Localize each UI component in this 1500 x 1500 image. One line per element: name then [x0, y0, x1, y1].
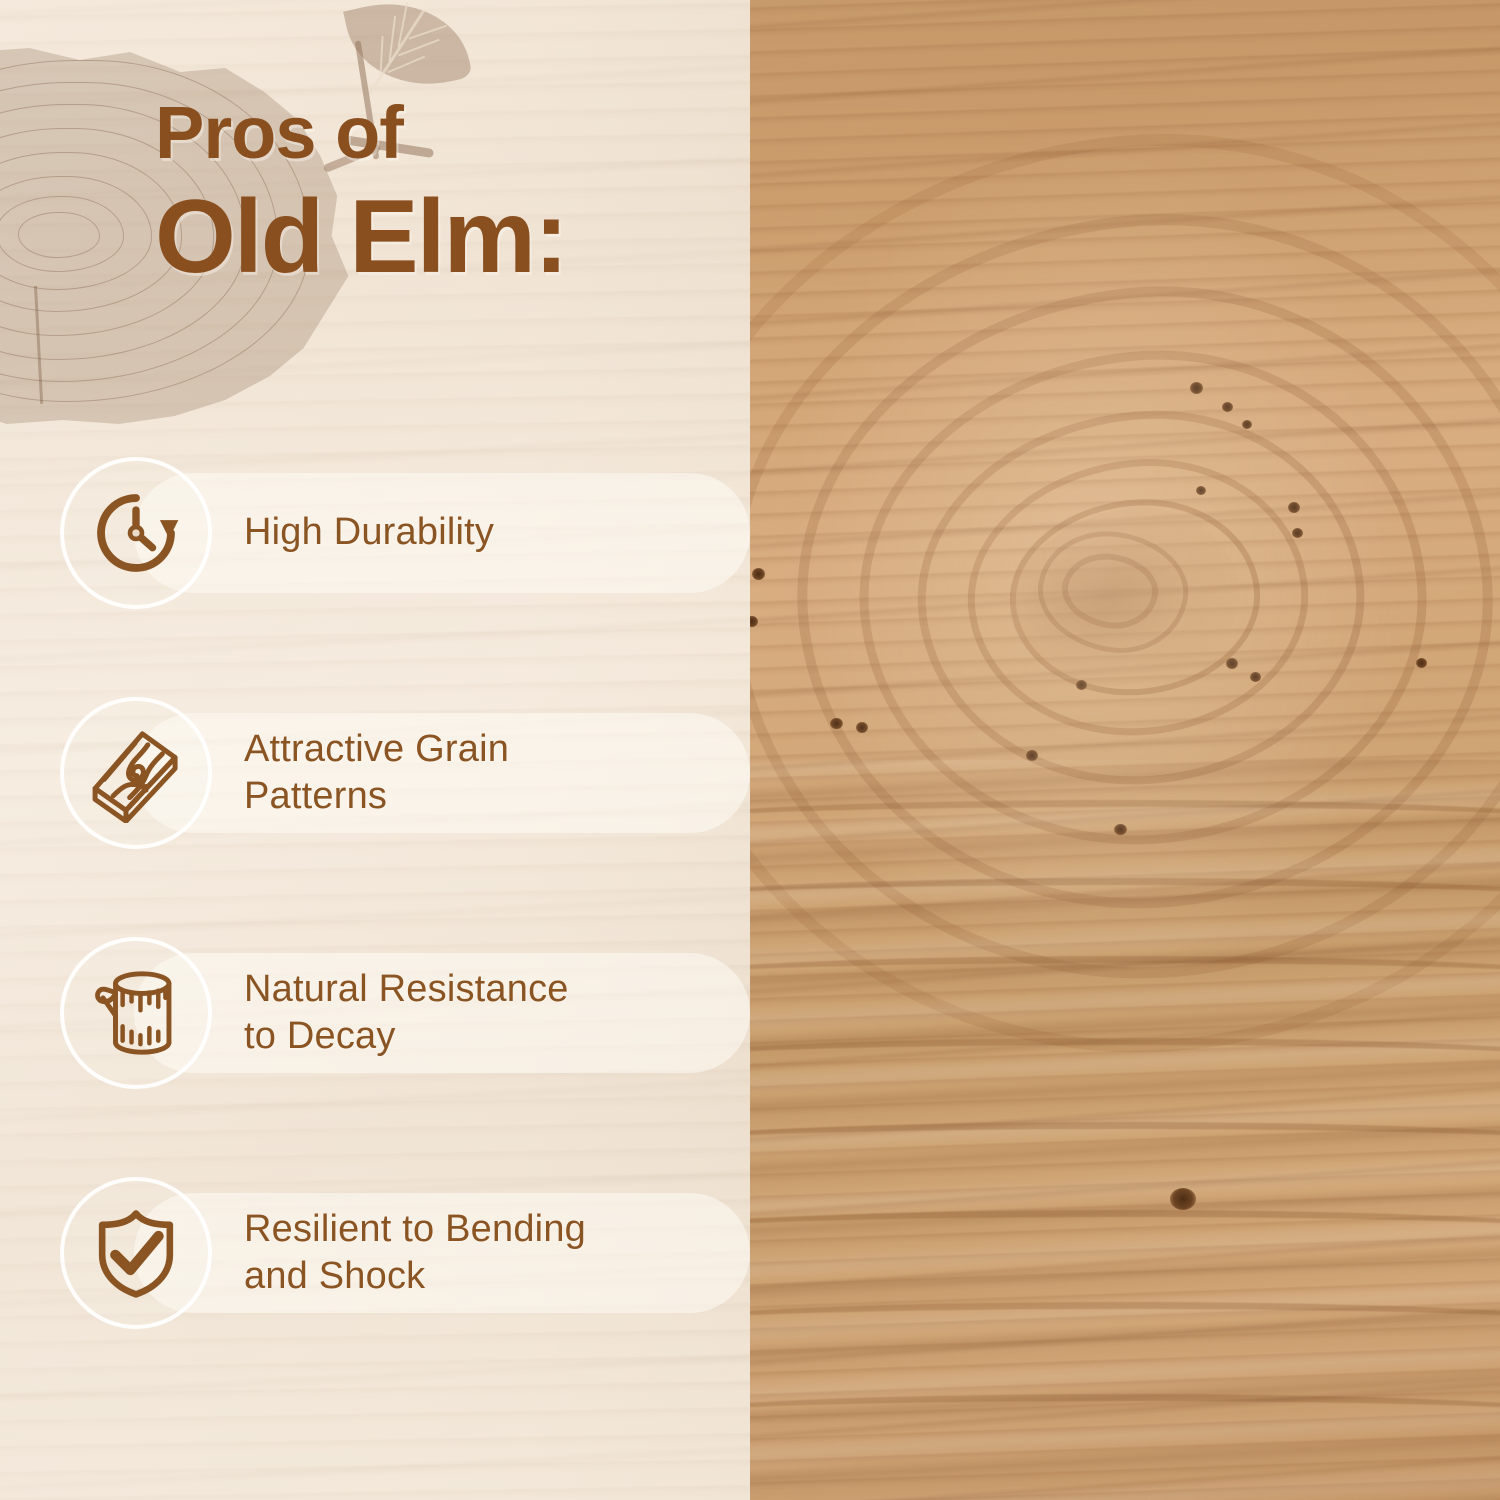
feature-label: Natural Resistance to Decay: [244, 966, 569, 1059]
tree-log-icon: [87, 964, 185, 1062]
feature-icon-circle: [60, 697, 212, 849]
feature-icon-circle: [60, 1177, 212, 1329]
content-panel: Pros of Old Elm: High Durability: [0, 0, 750, 1500]
feature-list: High Durability: [60, 455, 720, 1415]
shield-check-icon: [89, 1206, 183, 1300]
list-item[interactable]: Attractive Grain Patterns: [60, 695, 720, 850]
title-line-2: Old Elm:: [155, 182, 735, 292]
wood-plank-grain-icon: [86, 723, 186, 823]
feature-label: Attractive Grain Patterns: [244, 726, 509, 819]
title-line-1: Pros of: [155, 96, 735, 170]
feature-label: High Durability: [244, 509, 494, 555]
page-title: Pros of Old Elm:: [155, 96, 735, 292]
feature-label: Resilient to Bending and Shock: [244, 1206, 586, 1299]
poster-root: Pros of Old Elm: High Durability: [0, 0, 1500, 1500]
list-item[interactable]: High Durability: [60, 455, 720, 610]
clock-history-icon: [90, 487, 182, 579]
list-item[interactable]: Resilient to Bending and Shock: [60, 1175, 720, 1330]
feature-icon-circle: [60, 937, 212, 1089]
list-item[interactable]: Natural Resistance to Decay: [60, 935, 720, 1090]
wood-sheen-overlay: [750, 0, 1500, 1500]
feature-icon-circle: [60, 457, 212, 609]
wood-photo-panel: [750, 0, 1500, 1500]
